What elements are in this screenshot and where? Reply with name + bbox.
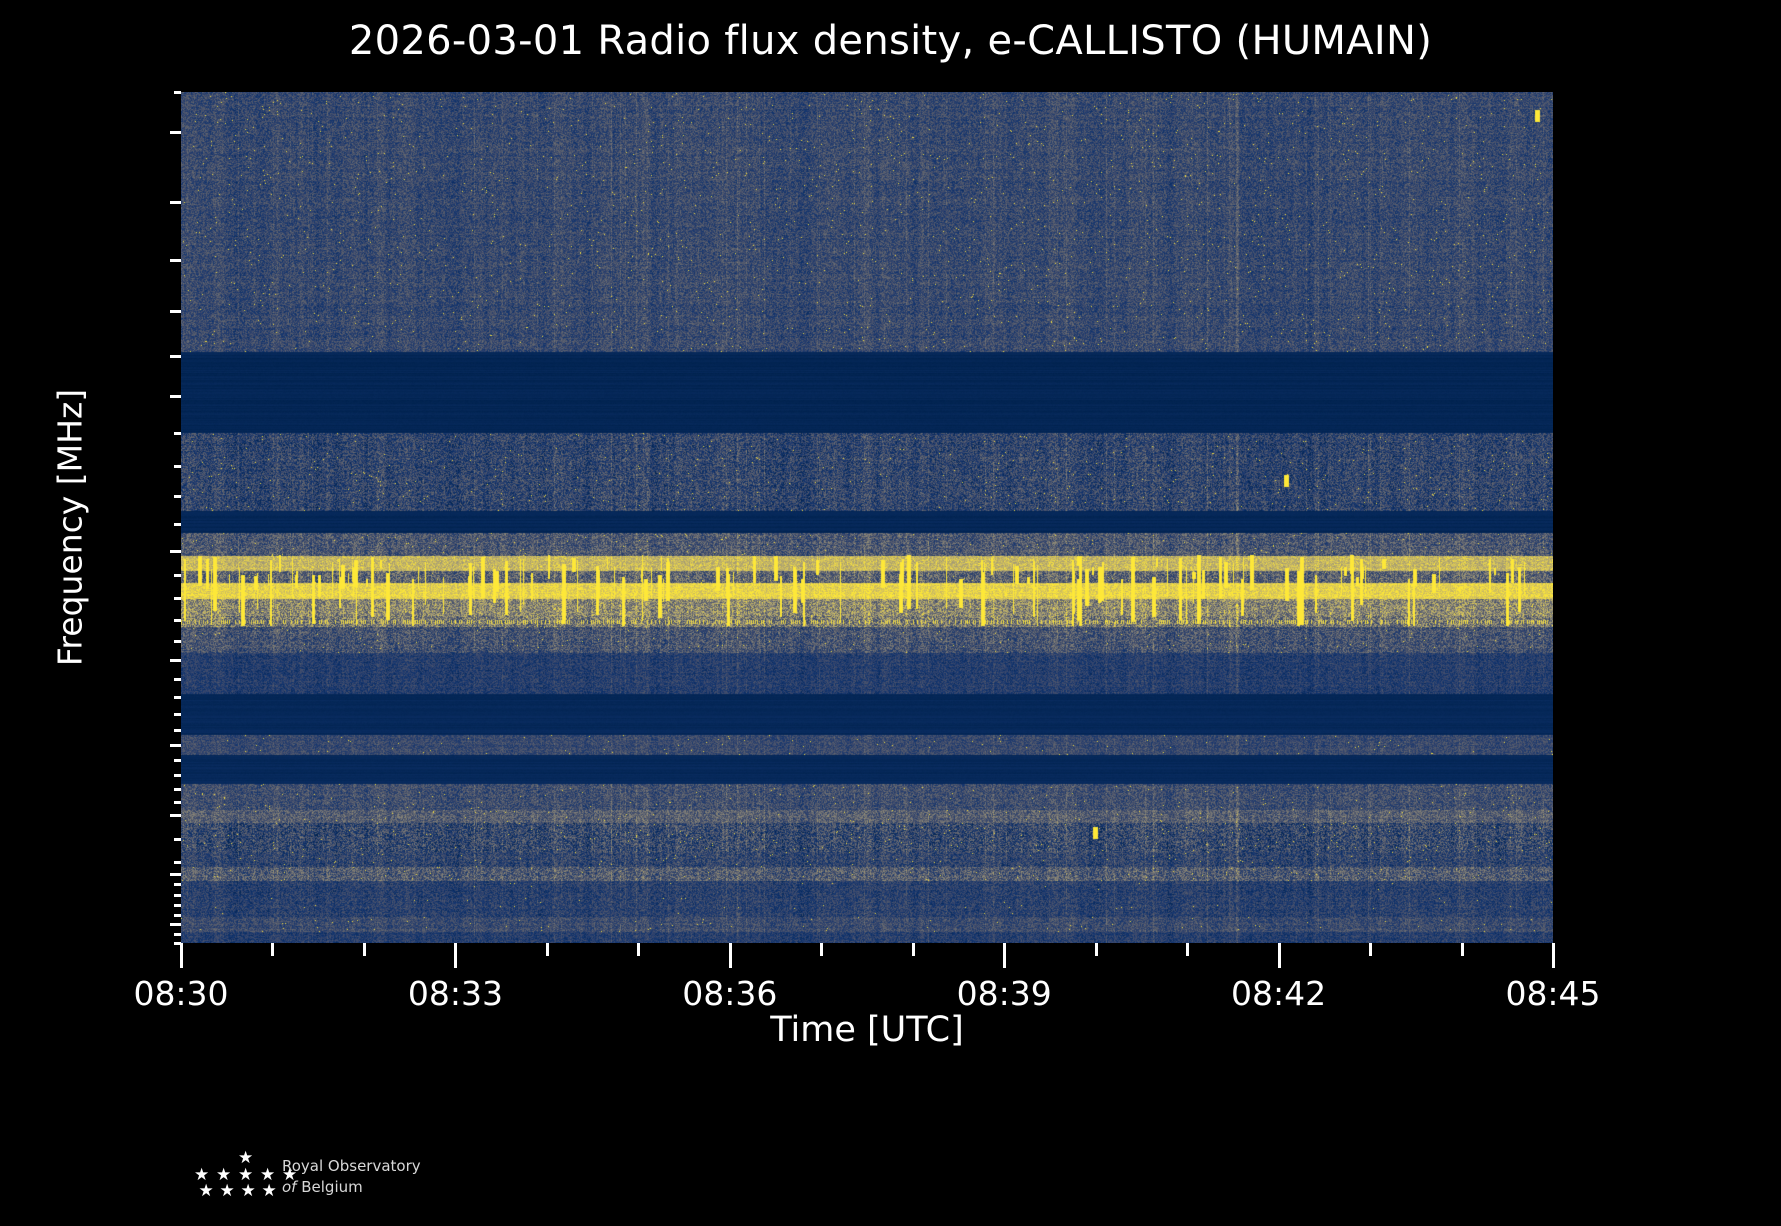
logo-line-1: Royal Observatory — [282, 1156, 512, 1177]
y-tick-minor-270 — [174, 774, 181, 777]
y-tick-minor-45 — [174, 91, 181, 94]
y-tick-minor-380 — [174, 904, 181, 907]
x-tick-minor-0835 — [637, 943, 640, 956]
y-tick-minor-290 — [174, 801, 181, 804]
y-tick-minor-210 — [174, 678, 181, 681]
y-tick-minor-170 — [174, 597, 181, 600]
x-axis-label: Time [UTC] — [181, 1010, 1553, 1050]
x-tick-mark-0845 — [1552, 943, 1555, 968]
y-tick-minor-120 — [174, 465, 181, 468]
x-tick-label-0839: 08:39 — [957, 974, 1052, 1013]
x-tick-minor-0838 — [912, 943, 915, 956]
y-tick-mark-350 — [170, 873, 181, 876]
star-icon: ★ — [241, 1183, 256, 1200]
y-axis: 5060708090100150200250300350400 — [0, 0, 181, 1226]
x-tick-minor-0837 — [820, 943, 823, 956]
figure-canvas: 2026-03-01 Radio flux density, e-CALLIST… — [0, 0, 1781, 1226]
y-tick-minor-280 — [174, 788, 181, 791]
x-tick-minor-0844 — [1461, 943, 1464, 956]
x-tick-label-0833: 08:33 — [408, 974, 503, 1013]
y-tick-minor-390 — [174, 914, 181, 917]
x-tick-minor-0834 — [546, 943, 549, 956]
spectrogram-plot[interactable] — [181, 92, 1553, 943]
y-tick-mark-250 — [170, 744, 181, 747]
y-axis-label: Frequency [MHz] — [51, 98, 90, 958]
y-tick-mark-150 — [170, 550, 181, 553]
y-tick-mark-100 — [170, 395, 181, 398]
logo-belgium-word: Belgium — [301, 1178, 363, 1196]
y-tick-minor-230 — [174, 713, 181, 716]
x-tick-minor-0841 — [1186, 943, 1189, 956]
y-tick-mark-50 — [170, 131, 181, 134]
y-tick-minor-140 — [174, 523, 181, 526]
x-tick-minor-0832 — [363, 943, 366, 956]
x-tick-label-0830: 08:30 — [133, 974, 228, 1013]
x-tick-minor-0843 — [1369, 943, 1372, 956]
x-tick-mark-0833 — [454, 943, 457, 968]
x-tick-mark-0842 — [1278, 943, 1281, 968]
y-tick-minor-190 — [174, 640, 181, 643]
star-icon: ★ — [220, 1183, 235, 1200]
y-tick-minor-110 — [174, 432, 181, 435]
x-tick-minor-0831 — [271, 943, 274, 956]
star-icon: ★ — [199, 1183, 214, 1200]
y-tick-mark-70 — [170, 259, 181, 262]
x-tick-mark-0836 — [729, 943, 732, 968]
y-tick-minor-370 — [174, 894, 181, 897]
logo-text: Royal Observatory of Belgium — [282, 1156, 512, 1198]
y-tick-minor-410 — [174, 933, 181, 936]
royal-observatory-logo: ★★★★★★★★★★ Royal Observatory of Belgium — [186, 1150, 516, 1216]
y-tick-mark-90 — [170, 355, 181, 358]
star-icon: ★ — [262, 1183, 277, 1200]
y-tick-mark-200 — [170, 659, 181, 662]
logo-line-2: of Belgium — [282, 1177, 512, 1198]
y-tick-minor-180 — [174, 619, 181, 622]
y-tick-minor-340 — [174, 861, 181, 864]
chart-title: 2026-03-01 Radio flux density, e-CALLIST… — [0, 18, 1781, 64]
y-tick-minor-320 — [174, 838, 181, 841]
y-tick-mark-400 — [170, 923, 181, 926]
y-tick-mark-60 — [170, 201, 181, 204]
spectrogram-image[interactable] — [181, 92, 1553, 943]
x-tick-label-0836: 08:36 — [682, 974, 777, 1013]
y-tick-minor-360 — [174, 883, 181, 886]
x-tick-minor-0840 — [1095, 943, 1098, 956]
y-tick-minor-160 — [174, 574, 181, 577]
logo-of-word: of — [282, 1178, 296, 1196]
y-tick-mark-80 — [170, 310, 181, 313]
y-tick-minor-220 — [174, 696, 181, 699]
y-tick-mark-300 — [170, 814, 181, 817]
x-tick-label-0842: 08:42 — [1231, 974, 1326, 1013]
x-tick-label-0845: 08:45 — [1505, 974, 1600, 1013]
x-tick-mark-0839 — [1003, 943, 1006, 968]
x-tick-mark-0830 — [180, 943, 183, 968]
y-tick-minor-260 — [174, 759, 181, 762]
y-tick-minor-130 — [174, 495, 181, 498]
y-tick-minor-240 — [174, 729, 181, 732]
